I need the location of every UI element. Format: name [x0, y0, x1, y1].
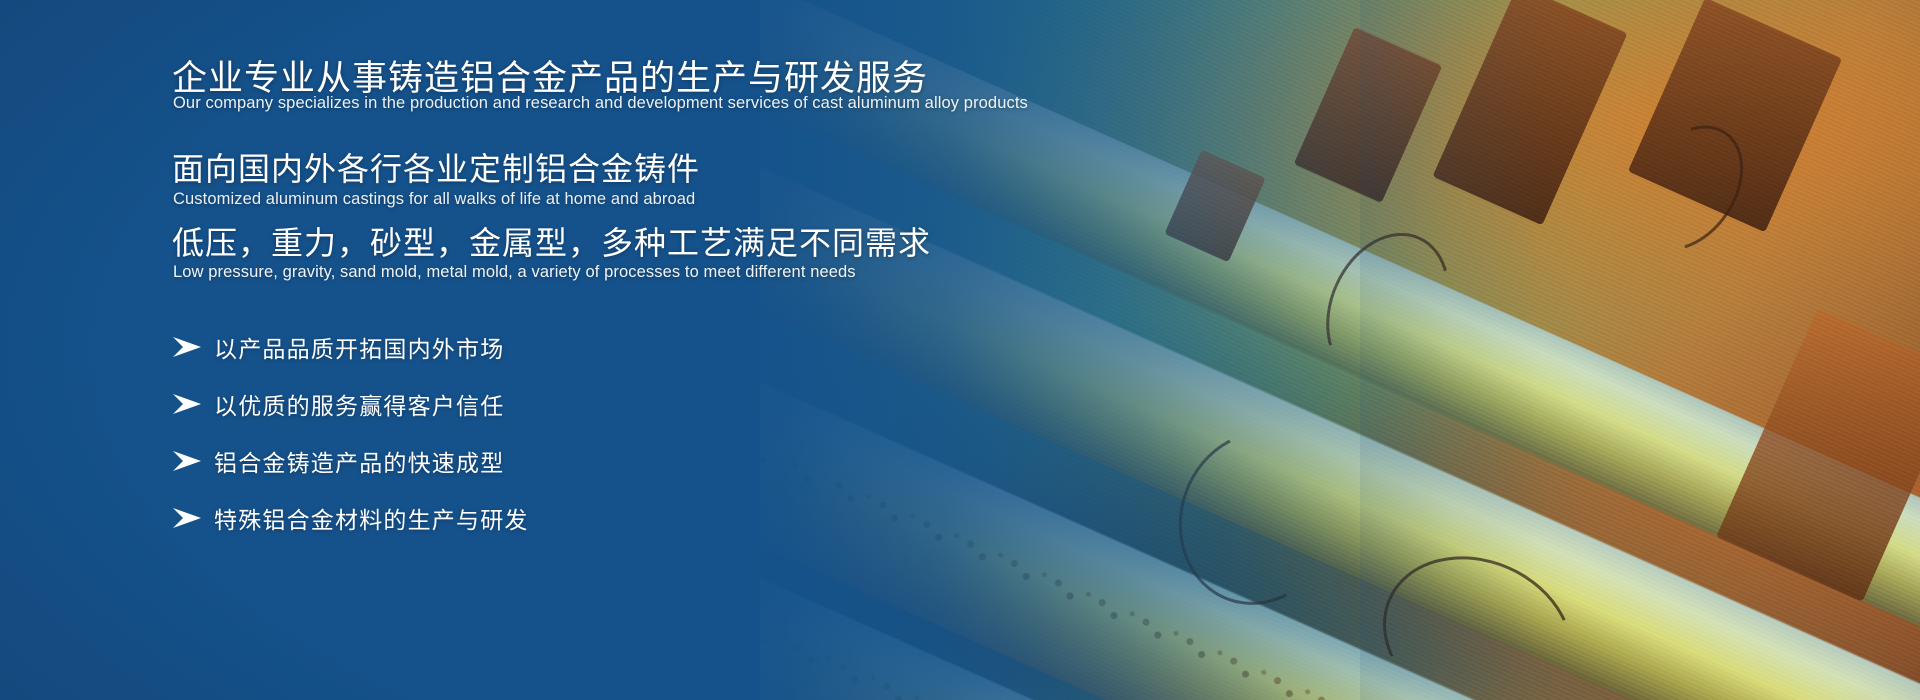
- hero-banner: 企业专业从事铸造铝合金产品的生产与研发服务 Our company specia…: [0, 0, 1920, 700]
- headline-primary-en: Our company specializes in the productio…: [173, 94, 1028, 113]
- list-item-label: 以优质的服务赢得客户信任: [214, 387, 504, 421]
- list-item: 以优质的服务赢得客户信任: [172, 375, 529, 432]
- banner-content: 企业专业从事铸造铝合金产品的生产与研发服务 Our company specia…: [172, 0, 1272, 700]
- headline-secondary-en: Customized aluminum castings for all wal…: [173, 190, 695, 209]
- headline-tertiary-en: Low pressure, gravity, sand mold, metal …: [173, 263, 856, 282]
- arrow-right-icon: [172, 507, 214, 529]
- list-item-label: 铝合金铸造产品的快速成型: [214, 444, 504, 478]
- feature-bullet-list: 以产品品质开拓国内外市场 以优质的服务赢得客户信任 铝合金铸造产品的快速成型: [172, 318, 529, 546]
- list-item-label: 以产品品质开拓国内外市场: [214, 330, 504, 364]
- list-item: 以产品品质开拓国内外市场: [172, 318, 529, 375]
- list-item-label: 特殊铝合金材料的生产与研发: [214, 501, 529, 535]
- arrow-right-icon: [172, 336, 214, 358]
- arrow-right-icon: [172, 393, 214, 415]
- headline-tertiary-cn: 低压，重力，砂型，金属型，多种工艺满足不同需求: [172, 218, 931, 264]
- arrow-right-icon: [172, 450, 214, 472]
- list-item: 特殊铝合金材料的生产与研发: [172, 489, 529, 546]
- headline-secondary-cn: 面向国内外各行各业定制铝合金铸件: [172, 144, 700, 190]
- list-item: 铝合金铸造产品的快速成型: [172, 432, 529, 489]
- right-tint-overlay: [1360, 0, 1920, 700]
